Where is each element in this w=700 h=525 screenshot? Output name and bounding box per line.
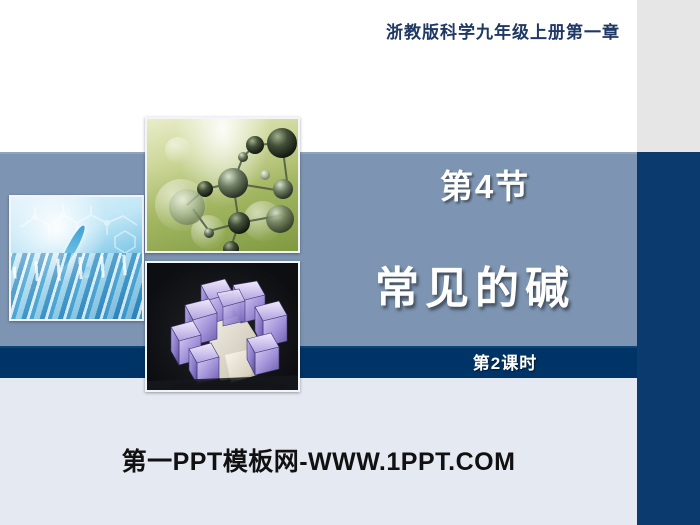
crystal-photo: [145, 261, 300, 392]
molecular-structure-icon: [147, 119, 300, 253]
right-gray-panel: [637, 0, 700, 152]
presentation-slide: 浙教版科学九年级上册第一章: [0, 0, 700, 525]
navy-band-highlight: [0, 346, 637, 348]
fluorite-crystal-icon: [147, 263, 300, 392]
molecule-photo: [145, 117, 300, 253]
slide-main-title: 常见的碱: [320, 252, 630, 316]
right-navy-panel: [637, 152, 700, 525]
course-header-text: 浙教版科学九年级上册第一章: [386, 18, 620, 43]
period-label: 第2课时: [380, 349, 630, 374]
watermark-text: 第一PPT模板网-WWW.1PPT.COM: [0, 442, 637, 478]
steel-band-top-edge: [0, 152, 637, 154]
test-tubes-photo: [9, 195, 144, 321]
section-number-label: 第4节: [340, 160, 630, 208]
